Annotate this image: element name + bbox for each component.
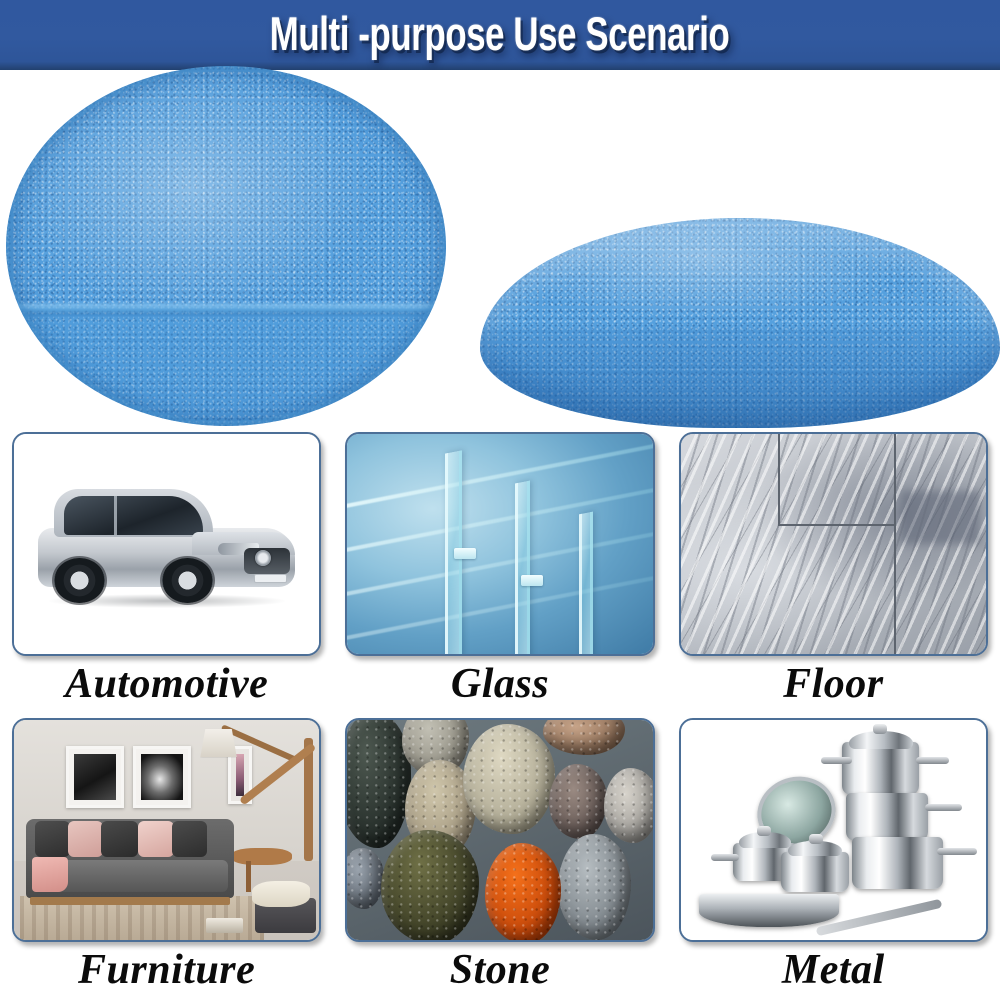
scenario-card-automotive[interactable] <box>12 432 321 656</box>
scenario-card-glass[interactable] <box>345 432 654 656</box>
scenario-label-floor: Floor <box>679 660 988 708</box>
pebble <box>463 724 555 834</box>
scenario-card-floor[interactable] <box>679 432 988 656</box>
use-scenario-grid: Automotive Glass <box>0 428 1000 1000</box>
car-windows <box>64 496 202 535</box>
casserole-pot <box>852 837 944 890</box>
pot-handle <box>916 757 950 764</box>
car-illustration <box>38 491 294 605</box>
scenario-cell-automotive[interactable]: Automotive <box>0 428 333 714</box>
scenario-label-stone: Stone <box>345 946 654 994</box>
pebble <box>549 764 607 839</box>
pebble <box>345 848 384 910</box>
page-title: Multi -purpose Use Scenario <box>270 10 730 60</box>
floor-dark-patch <box>901 491 980 544</box>
fur-throw <box>252 881 310 907</box>
cushion-dark <box>101 821 138 857</box>
metal-scene <box>681 720 986 940</box>
pad-front-view <box>6 66 446 426</box>
car-rear-wheel <box>54 558 105 604</box>
car-license-plate <box>254 574 287 583</box>
cushion-dark <box>172 821 207 857</box>
glass-clip <box>454 548 476 559</box>
furniture-scene <box>14 720 319 940</box>
scenario-cell-stone[interactable]: Stone <box>333 714 666 1000</box>
tile-grout-line <box>778 434 780 524</box>
side-table-leg <box>246 861 251 892</box>
pebble <box>558 834 631 940</box>
stock-pot <box>842 742 918 795</box>
scenario-label-automotive: Automotive <box>12 660 321 708</box>
car-scene <box>14 434 319 654</box>
pad-angle-view <box>480 218 1000 428</box>
scenario-cell-floor[interactable]: Floor <box>667 428 1000 714</box>
stacked-books <box>206 918 243 933</box>
side-table <box>231 848 292 866</box>
lid-knob <box>873 724 887 734</box>
pot-handle <box>937 848 977 855</box>
scenario-cell-furniture[interactable]: Furniture <box>0 714 333 1000</box>
scenario-cell-glass[interactable]: Glass <box>333 428 666 714</box>
lid-knob <box>809 834 823 844</box>
pot-handle <box>821 757 852 764</box>
pot-handle <box>925 804 962 811</box>
tile-grout-line <box>778 524 894 526</box>
cushion-pink <box>138 821 173 857</box>
scenario-label-metal: Metal <box>679 946 988 994</box>
glass-scene <box>347 434 652 654</box>
glass-pane <box>515 481 530 656</box>
cushion-dark <box>35 821 70 857</box>
scenario-label-furniture: Furniture <box>12 946 321 994</box>
pad-edge-band <box>480 327 1000 428</box>
pebble-orange <box>485 843 561 942</box>
small-pot <box>781 852 848 892</box>
frying-pan <box>699 894 839 927</box>
pot-handle <box>711 854 738 861</box>
pebble <box>604 768 655 843</box>
sofa <box>26 819 234 898</box>
sauce-pot <box>846 793 928 841</box>
wall-art-frame <box>133 746 191 808</box>
scenario-card-furniture[interactable] <box>12 718 321 942</box>
sofa-base <box>30 897 229 904</box>
scenario-card-stone[interactable] <box>345 718 654 942</box>
glass-clip <box>521 575 543 586</box>
car-front-wheel <box>162 558 213 604</box>
wall-art-frame <box>66 746 124 808</box>
pad-front-rim <box>6 66 446 426</box>
scenario-card-metal[interactable] <box>679 718 988 942</box>
floor-lamp-shade <box>200 729 237 758</box>
pad-angle-body <box>480 218 1000 428</box>
hero-product-image <box>0 70 1000 428</box>
scenario-label-glass: Glass <box>345 660 654 708</box>
header-banner: Multi -purpose Use Scenario <box>0 0 1000 70</box>
tile-grout-line <box>894 434 896 654</box>
lid-knob <box>757 826 771 836</box>
floor-scene <box>681 434 986 654</box>
pebble <box>543 718 625 755</box>
stone-scene <box>347 720 652 940</box>
mercedes-star-icon <box>255 550 271 566</box>
cushion-pink <box>68 821 103 857</box>
glass-pane <box>579 512 593 656</box>
scenario-cell-metal[interactable]: Metal <box>667 714 1000 1000</box>
pebble <box>381 830 479 942</box>
pink-throw-blanket <box>32 857 67 892</box>
